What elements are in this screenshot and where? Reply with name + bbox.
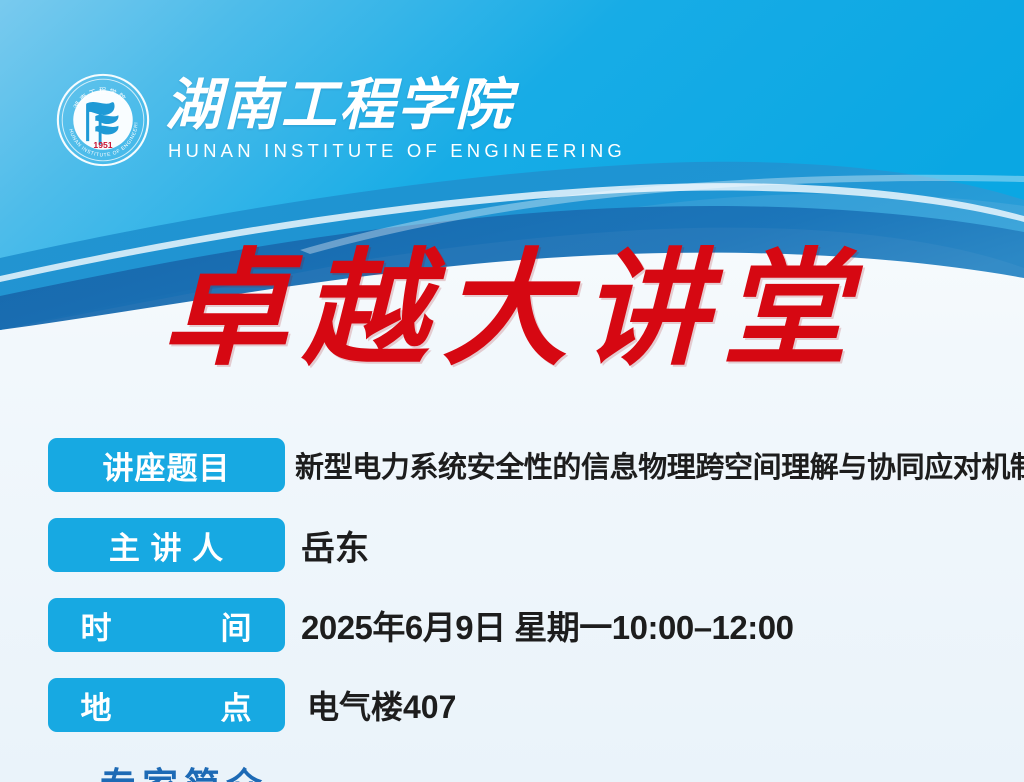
university-logo-block: 1951 湖南工程学院 HUNAN INSTITUTE OF ENGINEERI…: [55, 60, 626, 180]
info-rows: 讲座题目 新型电力系统安全性的信息物理跨空间理解与协同应对机制 主 讲 人 岳东…: [48, 438, 1024, 758]
university-name-cn: 湖南工程学院: [165, 78, 626, 135]
university-name-en: HUNAN INSTITUTE OF ENGINEERING: [165, 140, 626, 162]
info-row-speaker: 主 讲 人 岳东: [48, 518, 1024, 572]
info-value-topic: 新型电力系统安全性的信息物理跨空间理解与协同应对机制: [295, 444, 1024, 486]
info-value-time: 2025年6月9日 星期一10:00–12:00: [301, 601, 793, 649]
badge-place-char-1: 地: [81, 683, 113, 728]
university-seal-icon: 1951 湖南工程学院 HUNAN INSTITUTE OF ENGINEERI…: [55, 72, 151, 168]
badge-place-char-2: 点: [221, 683, 253, 728]
badge-place-label: 地 点: [48, 678, 285, 732]
badge-time-char-1: 时: [81, 603, 113, 648]
badge-time-label: 时 间: [48, 598, 285, 652]
badge-topic-label: 讲座题目: [48, 438, 285, 492]
svg-text:1951: 1951: [93, 140, 112, 150]
badge-speaker-label: 主 讲 人: [48, 518, 285, 572]
banner-title: 卓越大讲堂: [0, 238, 1024, 387]
info-row-place: 地 点 电气楼407: [48, 678, 1024, 732]
info-value-speaker: 岳东: [301, 521, 369, 570]
section-heading-expert-intro: 专家简介: [100, 757, 268, 782]
info-row-topic: 讲座题目 新型电力系统安全性的信息物理跨空间理解与协同应对机制: [48, 438, 1024, 492]
info-row-time: 时 间 2025年6月9日 星期一10:00–12:00: [48, 598, 1024, 652]
lecture-poster: 1951 湖南工程学院 HUNAN INSTITUTE OF ENGINEERI…: [0, 0, 1024, 782]
badge-time-char-2: 间: [221, 603, 253, 648]
info-value-place: 电气楼407: [307, 682, 456, 728]
